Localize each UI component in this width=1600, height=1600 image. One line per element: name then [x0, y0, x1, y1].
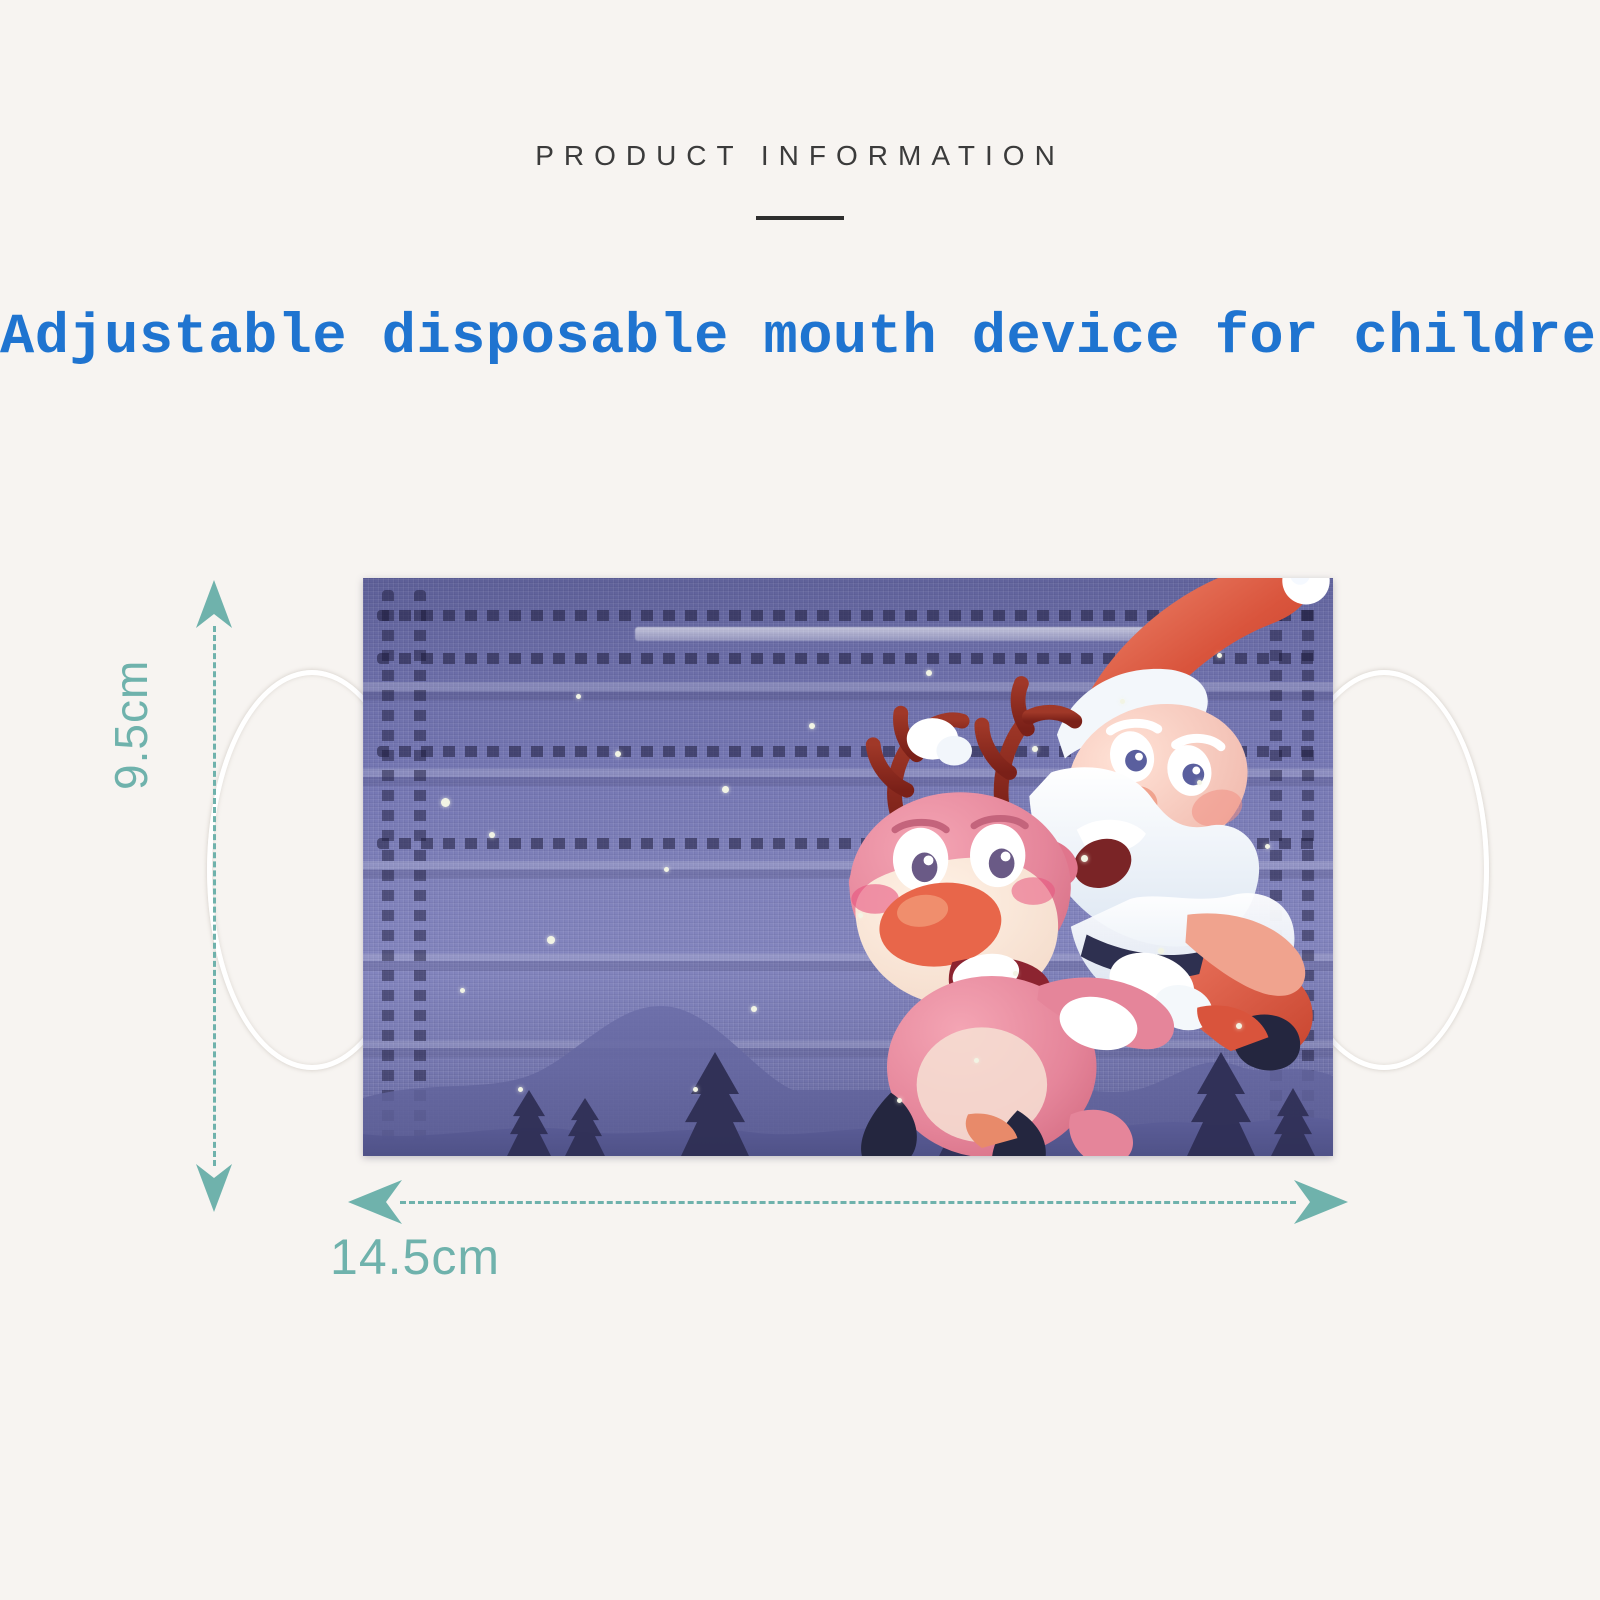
dimension-dashed-line: [213, 626, 216, 1166]
page-eyebrow: PRODUCT INFORMATION: [0, 140, 1600, 172]
mask-print-snow: [363, 578, 1333, 1156]
double-arrow-horizontal-icon: [348, 1180, 402, 1224]
double-arrow-vertical-icon: [196, 580, 232, 628]
product-information-page: PRODUCT INFORMATION Adjustable disposabl…: [0, 0, 1600, 1600]
page-title: Adjustable disposable mouth device for c…: [0, 306, 1600, 370]
mask-figure: [363, 578, 1333, 1156]
width-dimension-label: 14.5cm: [0, 1228, 1600, 1286]
header-divider: [756, 216, 844, 220]
mask-body: [363, 578, 1333, 1156]
double-arrow-vertical-icon: [196, 1164, 232, 1212]
height-dimension-label: 9.5cm: [104, 660, 158, 790]
dimension-dashed-line: [400, 1201, 1296, 1204]
double-arrow-horizontal-icon: [1294, 1180, 1348, 1224]
height-dimension-arrow: [196, 580, 232, 1212]
width-dimension-arrow: [348, 1180, 1348, 1224]
